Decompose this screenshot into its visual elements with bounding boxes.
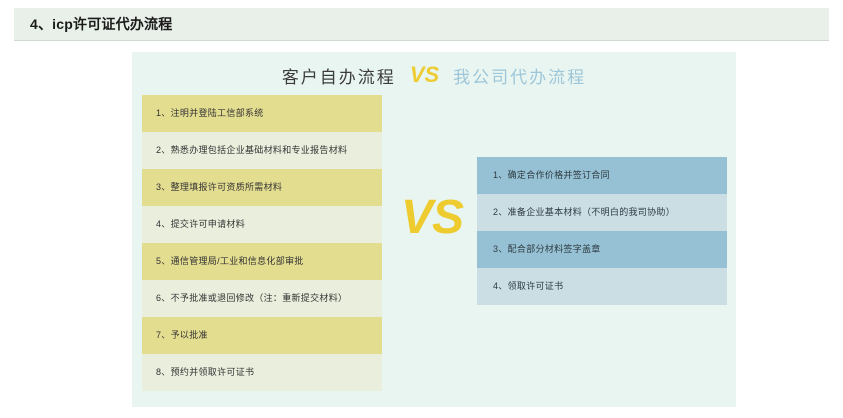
customer-flow-step-5: 5、通信管理局/工业和信息化部审批 [142, 256, 304, 267]
list-item: 6、不予批准或退回修改（注：重新提交材料） [142, 280, 382, 317]
list-item: 1、确定合作价格并签订合同 [477, 157, 727, 194]
agency-flow-step-2: 2、准备企业基本材料（不明白的我司协助） [477, 207, 675, 218]
list-item: 5、通信管理局/工业和信息化部审批 [142, 243, 382, 280]
list-item: 3、整理填报许可资质所需材料 [142, 169, 382, 206]
page-title: 4、icp许可证代办流程 [14, 17, 172, 31]
agency-flow-step-3: 3、配合部分材料签字盖章 [477, 244, 601, 255]
agency-flow-step-4: 4、领取许可证书 [477, 281, 563, 292]
customer-flow-step-7: 7、予以批准 [142, 330, 208, 341]
list-item: 7、予以批准 [142, 317, 382, 354]
heading-vs-label: VS [410, 62, 439, 88]
customer-flow-step-2: 2、熟悉办理包括企业基础材料和专业报告材料 [142, 145, 347, 156]
heading-customer-flow: 客户自办流程 [282, 63, 396, 88]
customer-flow-step-8: 8、预约并领取许可证书 [142, 367, 254, 378]
comparison-heading-row: 客户自办流程 VS 我公司代办流程 [132, 58, 736, 92]
customer-flow-list: 1、注明并登陆工信部系统 2、熟悉办理包括企业基础材料和专业报告材料 3、整理填… [142, 95, 382, 391]
list-item: 2、准备企业基本材料（不明白的我司协助） [477, 194, 727, 231]
list-item: 1、注明并登陆工信部系统 [142, 95, 382, 132]
list-item: 4、领取许可证书 [477, 268, 727, 305]
agency-flow-step-1: 1、确定合作价格并签订合同 [477, 170, 610, 181]
center-vs-label: VS [387, 194, 477, 242]
list-item: 2、熟悉办理包括企业基础材料和专业报告材料 [142, 132, 382, 169]
section-header: 4、icp许可证代办流程 [14, 8, 829, 41]
customer-flow-step-1: 1、注明并登陆工信部系统 [142, 108, 264, 119]
customer-flow-step-3: 3、整理填报许可资质所需材料 [142, 182, 282, 193]
page-root: 4、icp许可证代办流程 客户自办流程 VS 我公司代办流程 1、注明并登陆工信… [0, 0, 843, 418]
agency-flow-list: 1、确定合作价格并签订合同 2、准备企业基本材料（不明白的我司协助） 3、配合部… [477, 157, 727, 305]
list-item: 3、配合部分材料签字盖章 [477, 231, 727, 268]
list-item: 4、提交许可申请材料 [142, 206, 382, 243]
customer-flow-step-4: 4、提交许可申请材料 [142, 219, 245, 230]
comparison-panel: 客户自办流程 VS 我公司代办流程 1、注明并登陆工信部系统 2、熟悉办理包括企… [132, 52, 736, 407]
heading-agency-flow: 我公司代办流程 [453, 63, 586, 88]
customer-flow-step-6: 6、不予批准或退回修改（注：重新提交材料） [142, 293, 347, 304]
list-item: 8、预约并领取许可证书 [142, 354, 382, 391]
